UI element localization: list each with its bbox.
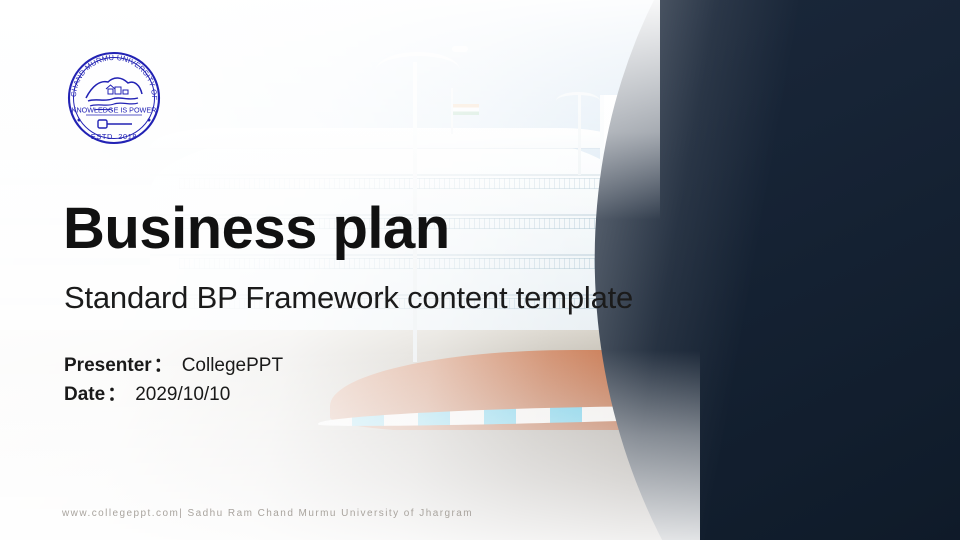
slide-subtitle: Standard BP Framework content template [64, 280, 633, 316]
seal-established: ESTD. 2018 [91, 132, 137, 141]
date-separator: ： [105, 384, 128, 405]
slide-title: Business plan [63, 199, 450, 260]
presenter-separator: ： [152, 355, 175, 376]
slide-footer: www.collegeppt.com| Sadhu Ram Chand Murm… [62, 508, 473, 519]
date-value: 2029/10/10 [128, 384, 230, 405]
svg-text:SADHU RAM CHAND MURMU UNIVERSI: SADHU RAM CHAND MURMU UNIVERSITY OF JHAR… [62, 46, 159, 100]
presenter-meta-block: Presenter：CollegePPT Date：2029/10/10 [64, 352, 283, 410]
university-logo: SADHU RAM CHAND MURMU UNIVERSITY OF JHAR… [62, 46, 166, 150]
presentation-slide: SADHU RAM CHAND MURMU UNIVERSITY OF JHAR… [0, 0, 960, 540]
seal-outer-text: SADHU RAM CHAND MURMU UNIVERSITY OF JHAR… [62, 46, 159, 100]
presenter-label: Presenter [64, 355, 152, 376]
presenter-row: Presenter：CollegePPT [64, 352, 283, 381]
presenter-value: CollegePPT [175, 355, 283, 376]
seal-motto: KNOWLEDGE IS POWER [72, 106, 157, 115]
date-label: Date [64, 384, 105, 405]
date-row: Date：2029/10/10 [64, 381, 283, 410]
